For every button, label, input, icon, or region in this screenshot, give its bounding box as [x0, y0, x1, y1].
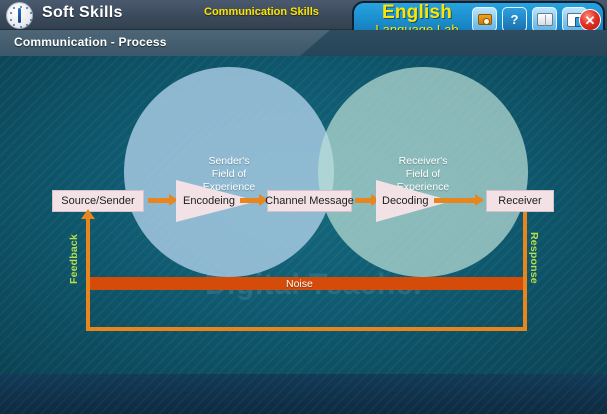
notes-button[interactable]: [532, 7, 557, 32]
feedback-arrow-head: [81, 209, 95, 219]
book-icon: [537, 13, 553, 26]
slide-canvas: Digital Teacher Sender's Field of Experi…: [0, 56, 607, 374]
feedback-path-vertical: [86, 218, 90, 331]
encoding-node-label: Encodeing: [183, 195, 235, 207]
bottom-toolbar: © Code and Pixels Interactive Technologi…: [0, 374, 607, 414]
receivers-field-line-1: Receiver's: [399, 155, 448, 167]
senders-field-line-2: Field of: [212, 168, 246, 180]
brand-line-1: English: [362, 4, 472, 22]
arrow-decoding-to-receiver: [434, 198, 476, 203]
close-button[interactable]: ✕: [579, 9, 601, 31]
page-title: Communication - Process: [14, 35, 167, 49]
camera-icon: [478, 14, 492, 25]
module-title: Communication Skills: [204, 6, 319, 18]
application-window: Soft Skills Communication Skills English…: [0, 0, 607, 414]
arrow-channel-to-decoding: [355, 198, 372, 203]
senders-field-line-1: Sender's: [208, 155, 249, 167]
channel-message-node[interactable]: Channel Message: [267, 190, 352, 212]
receiver-node[interactable]: Receiver: [486, 190, 554, 212]
noise-label: Noise: [286, 278, 313, 290]
decoding-node-label: Decoding: [382, 195, 428, 207]
feedback-label: Feedback: [68, 234, 80, 284]
receivers-field-line-2: Field of: [406, 168, 440, 180]
source-sender-node[interactable]: Source/Sender: [52, 190, 144, 212]
arrow-encoding-to-channel: [240, 198, 260, 203]
arrow-source-to-encoding: [148, 198, 170, 203]
response-path-vertical: [523, 212, 527, 331]
question-mark-icon: ?: [511, 12, 519, 27]
header-button-group: ?: [472, 7, 587, 32]
clock-icon: [6, 2, 33, 29]
top-header-bar: Soft Skills Communication Skills English…: [0, 0, 607, 30]
feedback-response-path-horizontal: [86, 327, 527, 331]
camera-button[interactable]: [472, 7, 497, 32]
response-label: Response: [528, 232, 540, 284]
sub-header-bar: Communication - Process: [0, 30, 607, 56]
app-title: Soft Skills: [42, 4, 123, 22]
help-button[interactable]: ?: [502, 7, 527, 32]
